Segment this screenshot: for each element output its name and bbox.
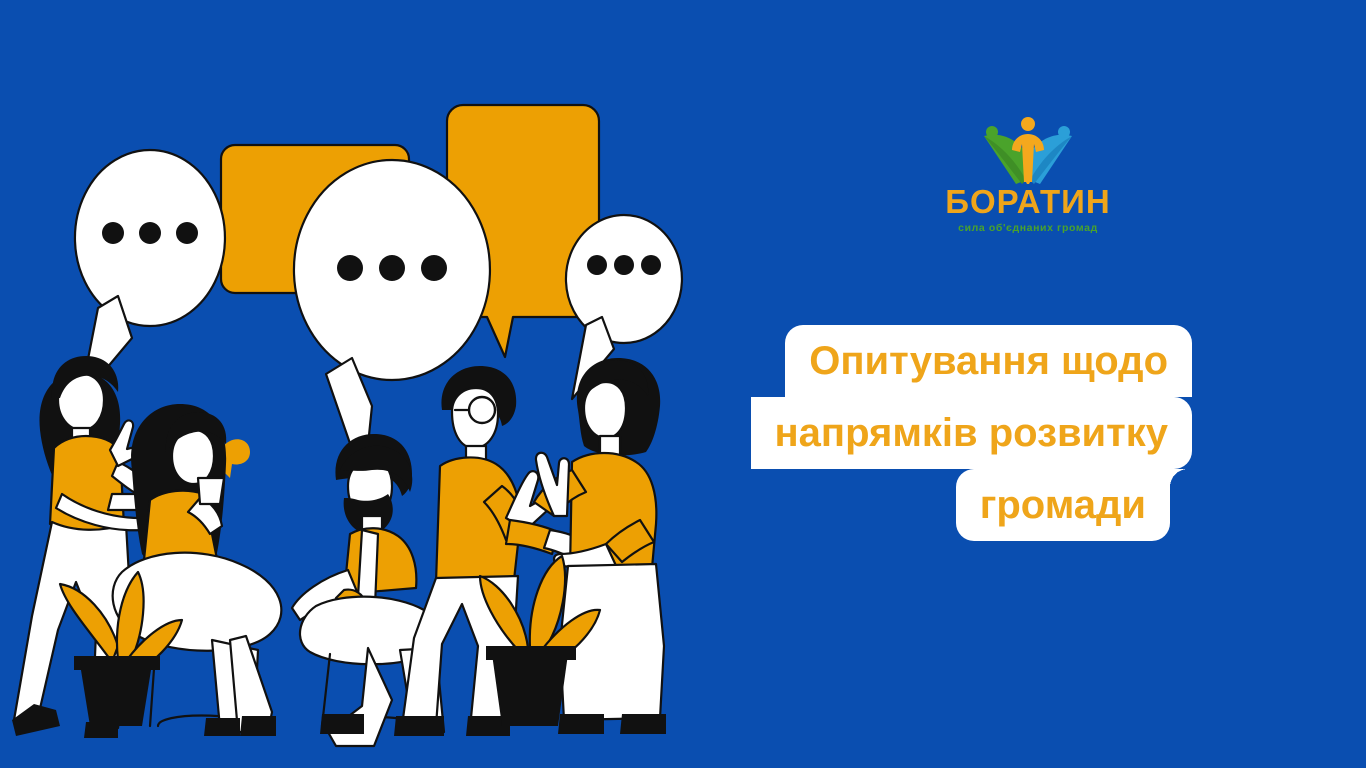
headline-line2: напрямків розвитку [751,397,1193,469]
headline-line2-wrap: напрямків розвитку [751,397,1193,469]
headline-block: Опитування щодо напрямків розвитку грома… [722,325,1192,541]
headline-line1: Опитування щодо [785,325,1192,397]
boratyn-people-v-mark [972,112,1084,184]
poster-canvas: .ln{fill:none;stroke:#111;stroke-width:2… [0,0,1366,768]
logo-wordmark: БОРАТИН [945,185,1110,218]
boratyn-logo[interactable]: БОРАТИН сила об'єднаних громад [938,112,1118,237]
headline-line1-wrap: Опитування щодо [785,325,1192,397]
headline-line3-wrap: громади [956,469,1192,541]
logo-tagline: сила об'єднаних громад [958,223,1098,234]
headline-line3: громади [956,469,1170,541]
